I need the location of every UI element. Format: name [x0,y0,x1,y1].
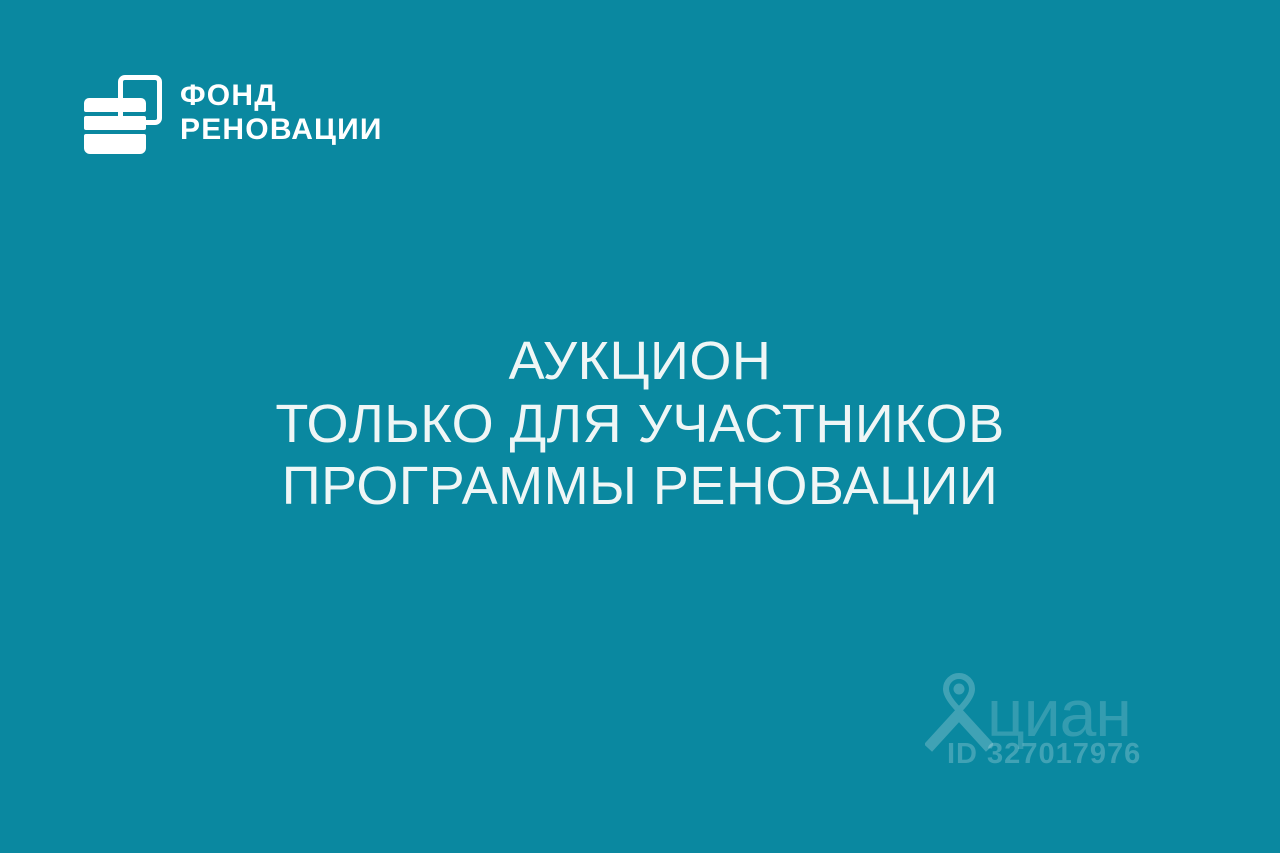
stack-bar-top [84,98,146,112]
stack-bar-bottom [84,134,146,154]
stacked-documents-icon [84,72,160,154]
headline-text: АУКЦИОН ТОЛЬКО ДЛЯ УЧАСТНИКОВ ПРОГРАММЫ … [0,330,1280,518]
cian-wordmark: циан [987,680,1131,746]
listing-id-label: ID 327017976 [947,740,1141,769]
stack-bar-middle [84,116,146,130]
promo-banner: ФОНД РЕНОВАЦИИ АУКЦИОН ТОЛЬКО ДЛЯ УЧАСТН… [0,0,1280,853]
document-stack-shape [84,98,146,154]
brand-wordmark: ФОНД РЕНОВАЦИИ [180,79,383,146]
brand-lockup: ФОНД РЕНОВАЦИИ [84,72,383,154]
brand-name-line-2: РЕНОВАЦИИ [180,113,383,146]
brand-name-line-1: ФОНД [180,79,277,112]
headline-line-3: ПРОГРАММЫ РЕНОВАЦИИ [0,455,1280,518]
cian-watermark: циан ID 327017976 [925,672,1165,782]
headline-line-1: АУКЦИОН [0,330,1280,393]
headline-line-2: ТОЛЬКО ДЛЯ УЧАСТНИКОВ [0,393,1280,456]
